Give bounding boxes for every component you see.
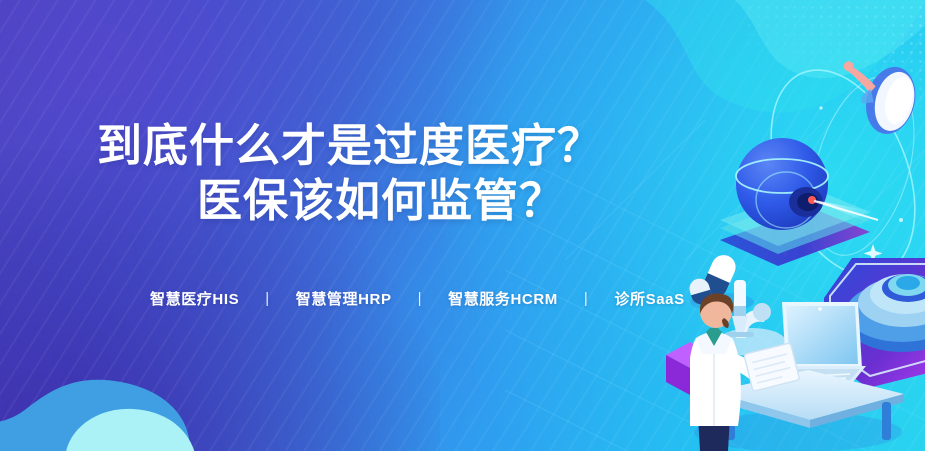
decorative-blob-outer — [0, 339, 260, 451]
decorative-blob-inner — [55, 381, 235, 451]
product-tagline: 智慧医疗HIS | 智慧管理HRP | 智慧服务HCRM | 诊所SaaS — [150, 288, 685, 309]
promo-banner: 到底什么才是过度医疗？ 医保该如何监管？ 智慧医疗HIS | 智慧管理HRP |… — [0, 0, 925, 451]
headline-line-2: 医保该如何监管？ — [0, 173, 700, 228]
tagline-item-his[interactable]: 智慧医疗HIS — [150, 288, 239, 309]
tagline-item-saas[interactable]: 诊所SaaS — [614, 288, 684, 309]
tagline-separator-1: | — [239, 290, 296, 307]
tagline-item-hcrm[interactable]: 智慧服务HCRM — [448, 288, 558, 309]
page-title: 到底什么才是过度医疗？ 医保该如何监管？ — [0, 118, 700, 228]
headline-line-1: 到底什么才是过度医疗？ — [0, 118, 700, 173]
tagline-item-hrp[interactable]: 智慧管理HRP — [296, 288, 392, 309]
tagline-separator-2: | — [392, 290, 449, 307]
tagline-separator-3: | — [558, 290, 615, 307]
doctor-workstation-illustration — [690, 276, 925, 451]
